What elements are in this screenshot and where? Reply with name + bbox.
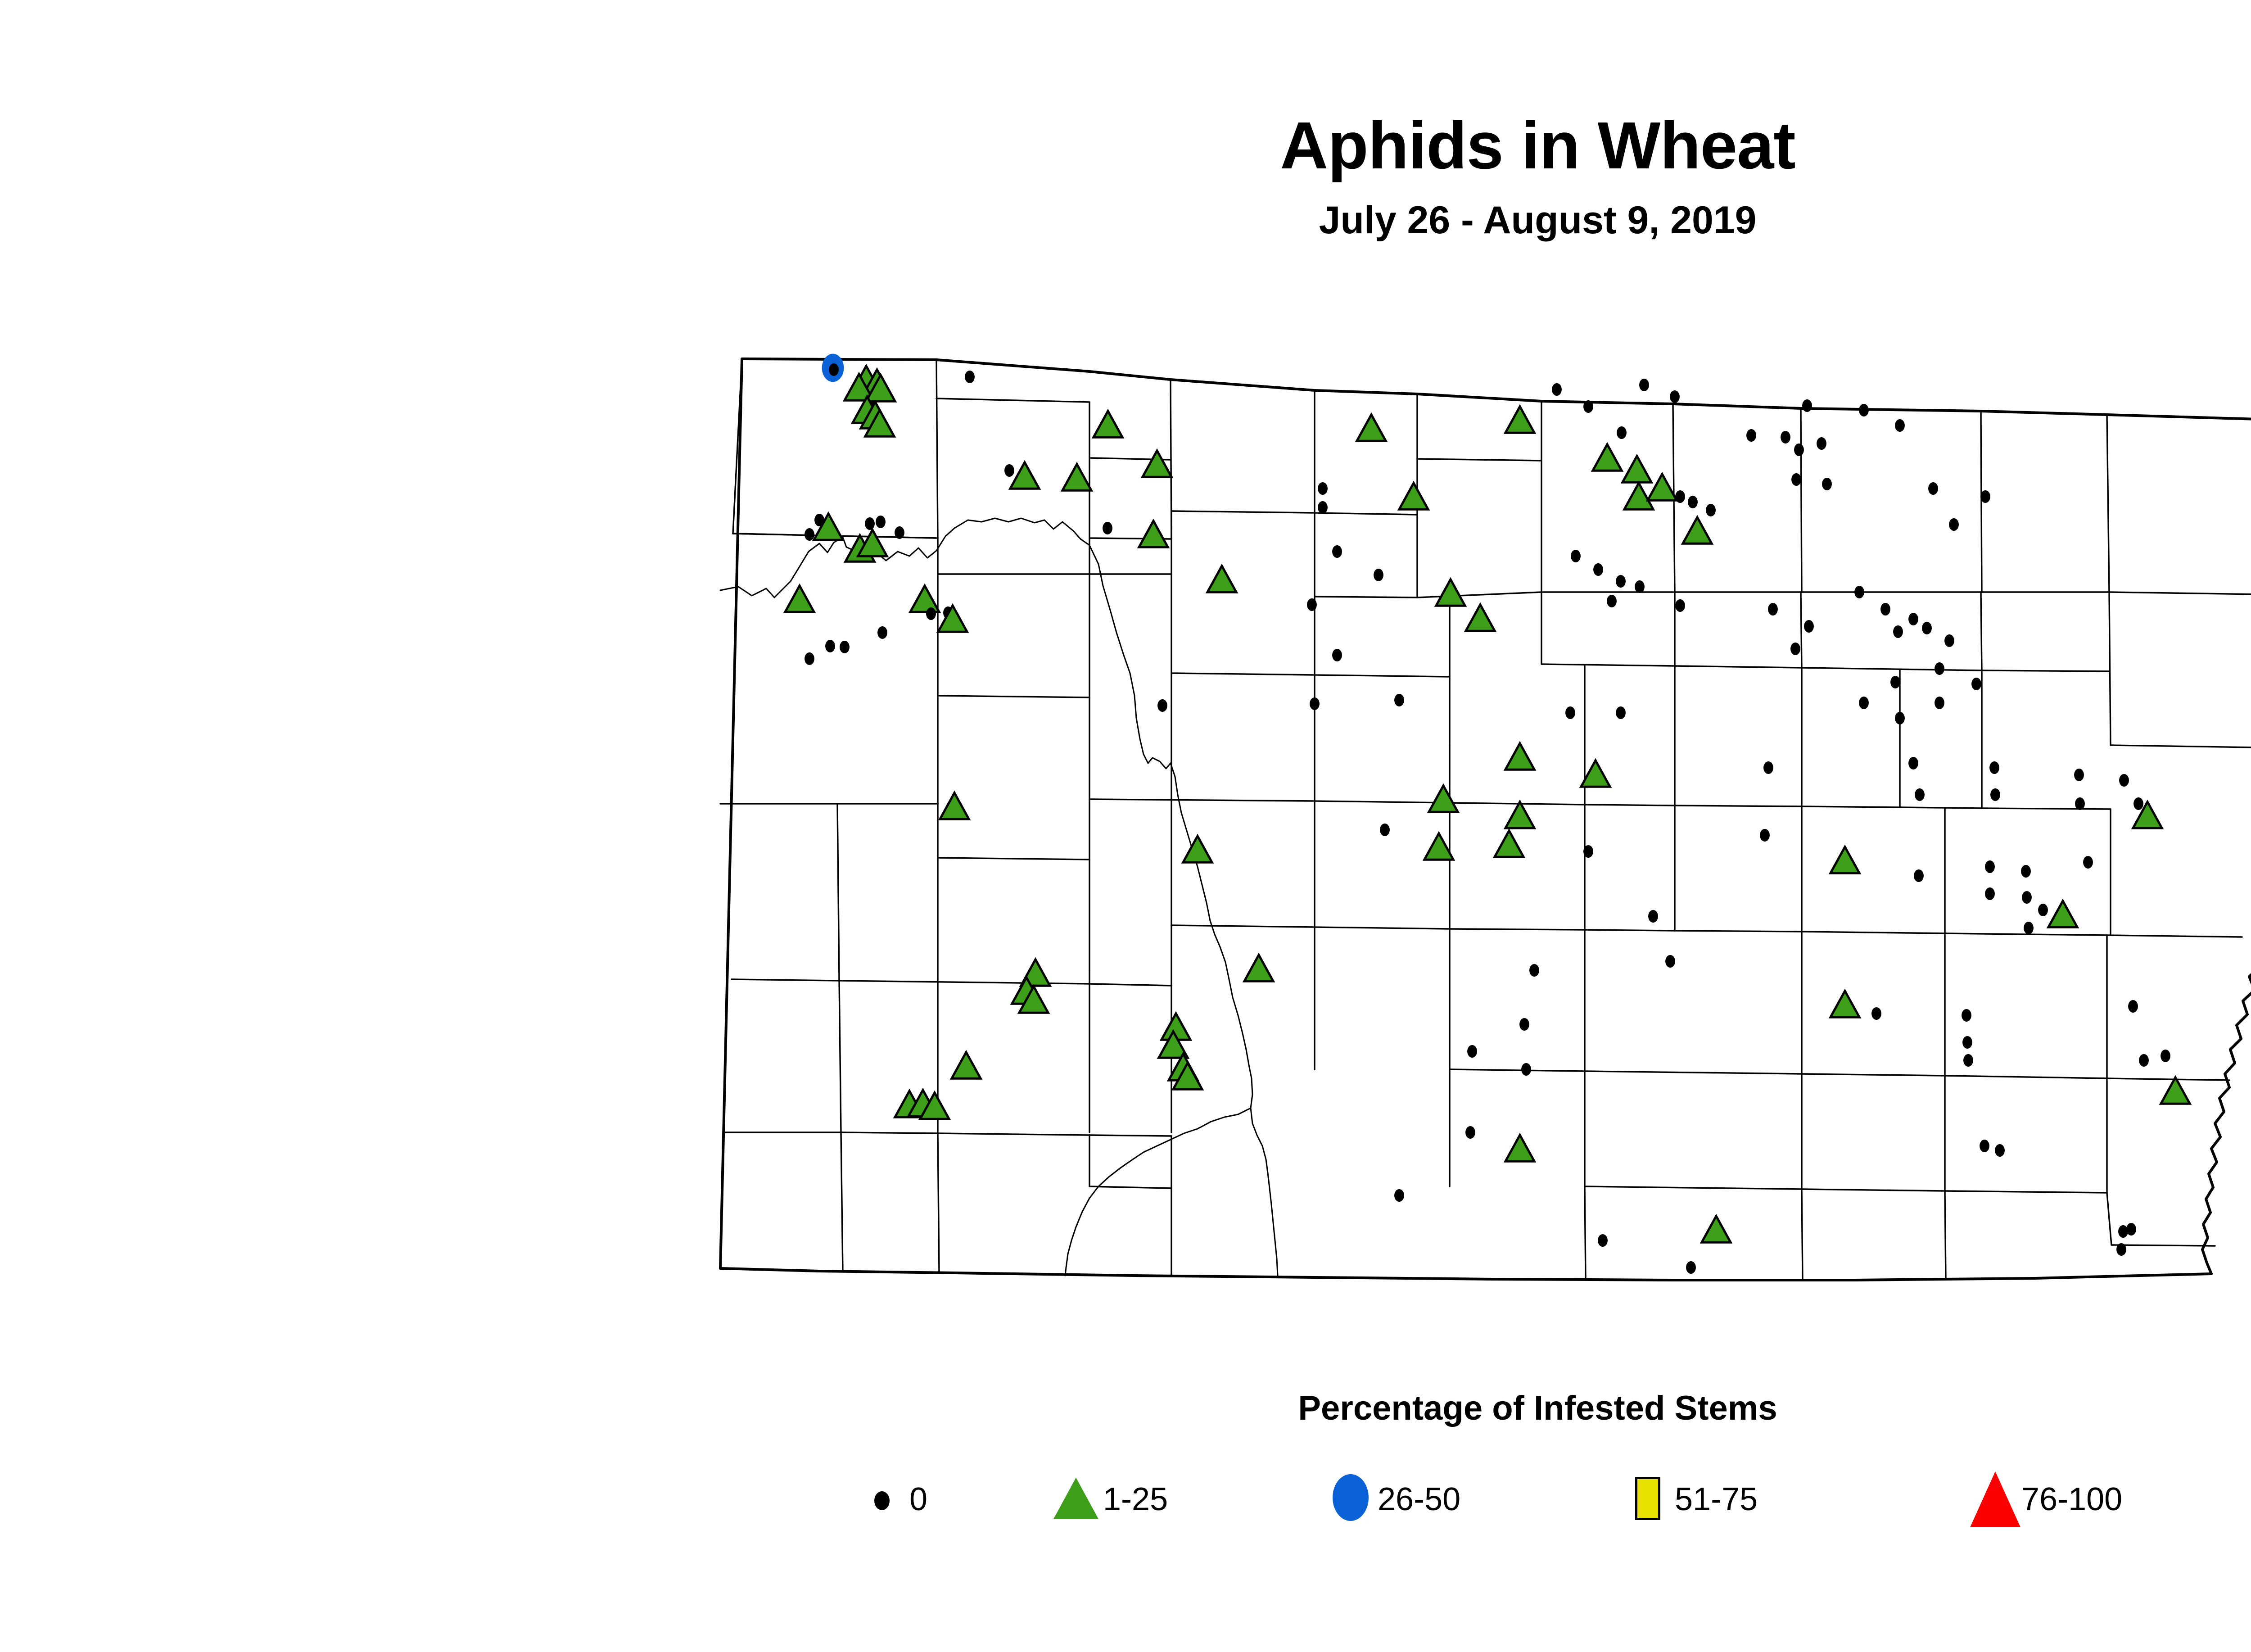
survey-marker[interactable] (1781, 431, 1790, 444)
survey-marker[interactable] (877, 626, 887, 639)
survey-marker[interactable] (1529, 964, 1539, 977)
map-page: Aphids in Wheat July 26 - August 9, 2019 (0, 0, 2251, 1652)
legend-label-76-100: 76-100 (2021, 1483, 2122, 1516)
survey-marker[interactable] (805, 652, 814, 665)
survey-marker[interactable] (2118, 1225, 2128, 1238)
page-title: Aphids in Wheat (0, 113, 2251, 179)
survey-marker[interactable] (2128, 1000, 2138, 1013)
survey-marker[interactable] (1157, 699, 1167, 712)
survey-marker[interactable] (1004, 464, 1014, 477)
survey-marker[interactable] (1794, 444, 1804, 456)
survey-marker[interactable] (2133, 797, 2143, 810)
survey-marker[interactable] (1963, 1054, 1973, 1067)
survey-marker[interactable] (1665, 955, 1675, 968)
survey-marker[interactable] (840, 641, 850, 653)
survey-marker[interactable] (1635, 580, 1645, 593)
survey-marker[interactable] (1675, 490, 1685, 503)
survey-marker[interactable] (1639, 379, 1649, 391)
survey-marker[interactable] (1521, 1063, 1531, 1076)
legend-title: Percentage of Infested Stems (0, 1391, 2251, 1426)
survey-marker[interactable] (1971, 678, 1981, 690)
survey-marker[interactable] (1895, 419, 1905, 432)
legend-item-76-100[interactable]: 76-100 (1967, 1463, 2122, 1535)
survey-marker[interactable] (2024, 922, 2034, 934)
survey-marker[interactable] (1598, 1234, 1608, 1247)
map-svg[interactable] (684, 340, 2251, 1322)
survey-marker[interactable] (1760, 829, 1770, 842)
survey-marker[interactable] (2126, 1223, 2136, 1236)
legend-label-51-75: 51-75 (1675, 1483, 1758, 1516)
survey-marker[interactable] (2139, 1054, 2149, 1067)
survey-marker[interactable] (1103, 522, 1112, 534)
survey-marker[interactable] (1962, 1009, 1971, 1022)
survey-marker[interactable] (1648, 910, 1658, 923)
survey-marker[interactable] (1318, 501, 1328, 514)
legend-label-26-50: 26-50 (1378, 1483, 1460, 1516)
legend-label-0: 0 (909, 1483, 927, 1516)
survey-marker[interactable] (1790, 643, 1800, 655)
survey-marker[interactable] (1310, 697, 1320, 710)
green-triangle-icon (1049, 1463, 1103, 1535)
survey-marker[interactable] (1893, 625, 1903, 638)
survey-marker[interactable] (1318, 482, 1328, 495)
survey-marker[interactable] (2161, 1050, 2170, 1062)
survey-marker[interactable] (1768, 603, 1778, 616)
survey-marker[interactable] (865, 517, 875, 530)
survey-marker[interactable] (2022, 891, 2032, 904)
survey-marker[interactable] (1804, 620, 1814, 633)
survey-marker[interactable] (1822, 478, 1832, 490)
survey-marker[interactable] (1949, 518, 1959, 531)
survey-marker[interactable] (1817, 437, 1826, 450)
survey-marker[interactable] (965, 371, 975, 383)
survey-marker[interactable] (1922, 622, 1932, 634)
survey-marker[interactable] (1763, 761, 1773, 774)
survey-marker[interactable] (1989, 761, 1999, 774)
survey-marker[interactable] (829, 363, 839, 376)
survey-marker[interactable] (1802, 399, 1812, 412)
survey-marker[interactable] (1985, 860, 1995, 873)
legend-item-51-75[interactable]: 51-75 (1621, 1463, 1758, 1535)
title-block: Aphids in Wheat July 26 - August 9, 2019 (0, 113, 2251, 240)
survey-marker[interactable] (1859, 697, 1869, 709)
survey-marker[interactable] (895, 526, 904, 539)
survey-marker[interactable] (1565, 706, 1575, 719)
legend-item-1-25[interactable]: 1-25 (1049, 1463, 1168, 1535)
survey-marker[interactable] (1307, 598, 1317, 611)
survey-marker[interactable] (2038, 904, 2048, 916)
survey-marker[interactable] (1706, 504, 1716, 516)
legend-item-0[interactable]: 0 (855, 1463, 927, 1535)
survey-marker[interactable] (1583, 845, 1593, 858)
survey-marker[interactable] (1928, 482, 1938, 495)
survey-marker[interactable] (1686, 1261, 1696, 1274)
survey-marker[interactable] (1980, 1140, 1989, 1152)
page-subtitle: July 26 - August 9, 2019 (0, 201, 2251, 240)
survey-marker[interactable] (1871, 1007, 1881, 1020)
legend-items: 0 1-25 26-50 51-75 76-100 (0, 1463, 2251, 1544)
survey-marker[interactable] (1895, 712, 1905, 724)
survey-marker[interactable] (1935, 697, 1944, 709)
survey-marker[interactable] (805, 528, 814, 541)
survey-marker[interactable] (1890, 676, 1900, 688)
survey-marker[interactable] (1688, 496, 1698, 508)
survey-marker[interactable] (1962, 1036, 1972, 1049)
legend: Percentage of Infested Stems 0 1-25 26-5… (0, 1391, 2251, 1544)
survey-marker[interactable] (1607, 595, 1617, 607)
survey-marker[interactable] (1332, 545, 1342, 558)
survey-marker[interactable] (1332, 649, 1342, 661)
survey-marker[interactable] (1914, 869, 1924, 882)
survey-marker[interactable] (2116, 1243, 2126, 1256)
survey-marker[interactable] (2083, 856, 2093, 869)
survey-marker[interactable] (1571, 550, 1581, 562)
survey-marker[interactable] (1859, 404, 1869, 416)
legend-label-1-25: 1-25 (1103, 1483, 1168, 1516)
black-dot-icon (855, 1463, 909, 1535)
survey-marker[interactable] (1675, 599, 1685, 612)
survey-marker[interactable] (1791, 473, 1801, 486)
survey-marker[interactable] (2021, 865, 2031, 878)
survey-marker[interactable] (1593, 563, 1603, 576)
survey-marker[interactable] (926, 607, 936, 620)
survey-marker[interactable] (1944, 634, 1954, 647)
survey-marker[interactable] (2074, 769, 2084, 781)
survey-marker[interactable] (1583, 400, 1593, 413)
survey-marker[interactable] (1995, 1144, 2005, 1157)
blue-circle-icon (1324, 1463, 1378, 1535)
survey-marker[interactable] (1935, 662, 1944, 675)
red-triangle-icon (1967, 1463, 2021, 1535)
survey-marker[interactable] (1915, 788, 1925, 801)
survey-marker[interactable] (1394, 694, 1404, 706)
survey-marker[interactable] (1990, 788, 2000, 801)
survey-marker[interactable] (1985, 887, 1995, 900)
survey-marker[interactable] (1880, 603, 1890, 616)
survey-marker[interactable] (1374, 569, 1383, 581)
yellow-square-icon (1621, 1463, 1675, 1535)
survey-marker[interactable] (1746, 429, 1756, 442)
survey-marker[interactable] (876, 516, 886, 528)
survey-marker[interactable] (1616, 706, 1626, 719)
survey-marker[interactable] (1617, 426, 1627, 439)
survey-marker[interactable] (1552, 383, 1562, 396)
survey-marker[interactable] (1467, 1045, 1477, 1058)
survey-marker[interactable] (1394, 1189, 1404, 1202)
survey-marker[interactable] (1980, 490, 1990, 503)
survey-marker[interactable] (1908, 757, 1918, 769)
survey-marker[interactable] (1519, 1018, 1529, 1031)
survey-marker[interactable] (1616, 575, 1626, 588)
survey-marker[interactable] (2119, 774, 2129, 787)
survey-marker[interactable] (1380, 824, 1390, 836)
north-dakota-map[interactable] (684, 340, 2251, 1322)
legend-item-26-50[interactable]: 26-50 (1324, 1463, 1460, 1535)
survey-marker[interactable] (2075, 797, 2085, 810)
survey-marker[interactable] (1908, 613, 1918, 625)
survey-marker[interactable] (1465, 1126, 1475, 1139)
survey-marker[interactable] (1854, 586, 1864, 598)
survey-marker[interactable] (825, 640, 835, 652)
survey-marker[interactable] (1670, 390, 1680, 403)
